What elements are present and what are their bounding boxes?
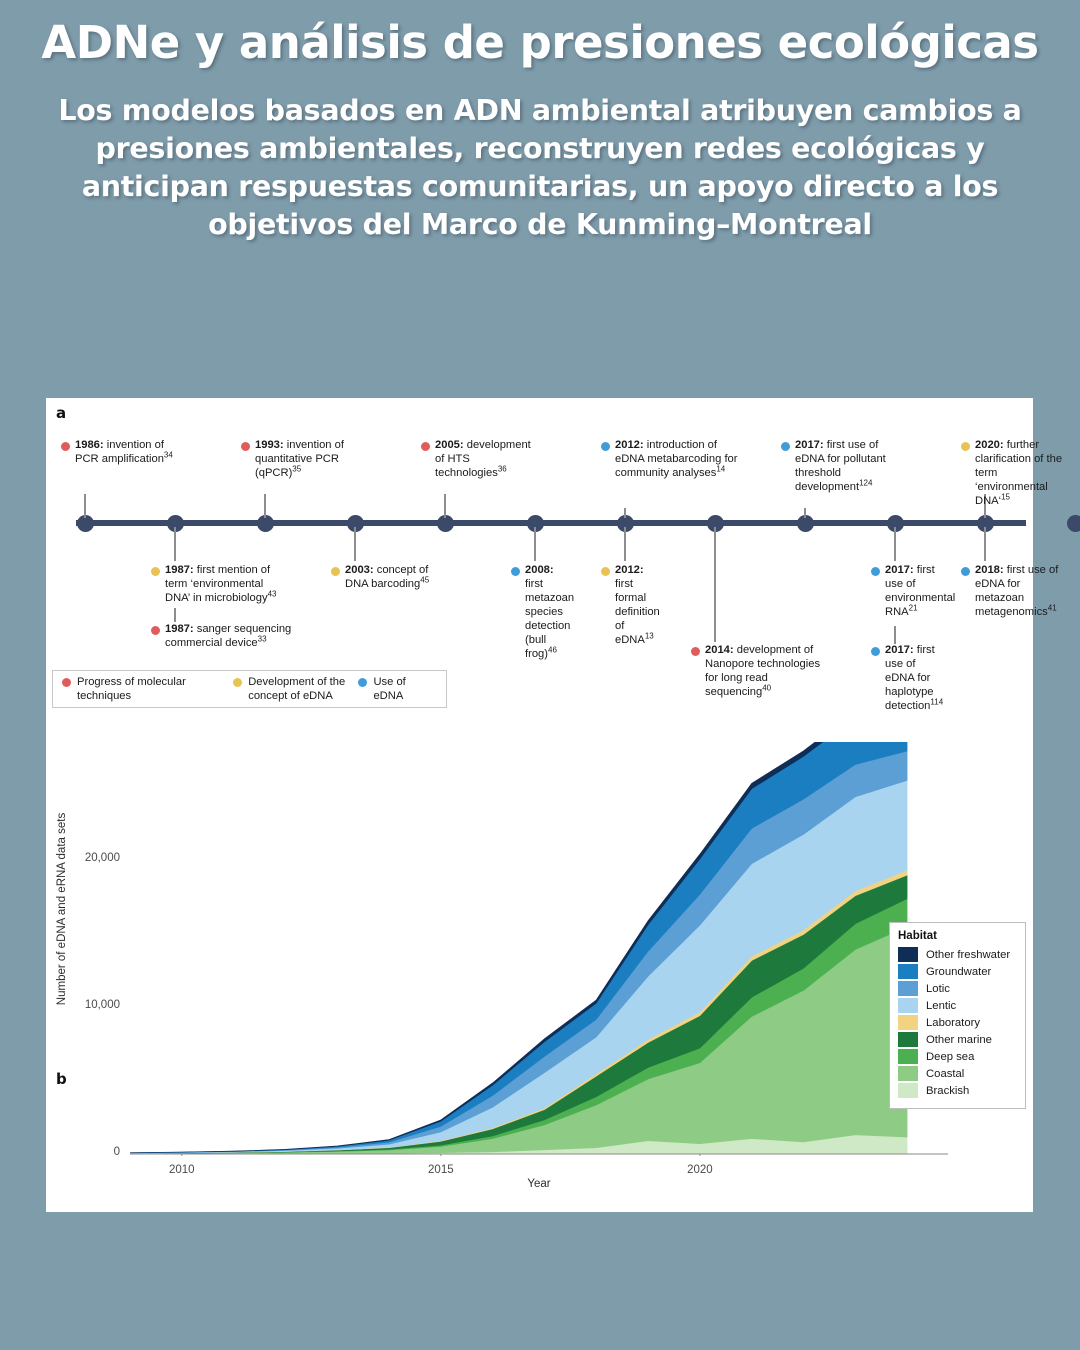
chart-legend-item[interactable]: Groundwater: [898, 964, 1017, 979]
timeline-axis: [76, 520, 1026, 526]
timeline-event-below: 2017: first use of environmental RNA21: [871, 563, 941, 619]
timeline-connector: [354, 527, 356, 561]
legend-swatch: [898, 947, 918, 962]
category-dot-icon: [511, 567, 520, 576]
timeline-connector: [894, 527, 896, 561]
chart-legend-item[interactable]: Lentic: [898, 998, 1017, 1013]
timeline-connector: [534, 527, 536, 561]
timeline-legend-item: Progress of molecular techniques: [62, 675, 233, 703]
poster-header: ADNe y análisis de presiones ecológicas …: [0, 0, 1080, 244]
timeline-event-text: 2014: development of Nanopore technologi…: [691, 643, 831, 699]
timeline-event-below: 1987: sanger sequencing commercial devic…: [151, 622, 311, 650]
chart-legend-label: Groundwater: [926, 966, 991, 978]
timeline-event-text: 2012: introduction of eDNA metabarcoding…: [601, 438, 749, 480]
timeline-event-text: 1986: invention of PCR amplification34: [61, 438, 179, 466]
timeline-legend-label: Development of the concept of eDNA: [248, 675, 358, 703]
timeline-connector: [444, 494, 446, 518]
timeline-event-text: 2017: first use of eDNA for pollutant th…: [781, 438, 909, 494]
chart-legend-label: Other freshwater: [926, 949, 1010, 961]
chart-legend-label: Lentic: [926, 1000, 956, 1012]
timeline-event-below: 2017: first use of eDNA for haplotype de…: [871, 643, 941, 713]
stacked-area-plot: [130, 742, 948, 1154]
timeline-event-below: 2018: first use of eDNA for metazoan met…: [961, 563, 1071, 619]
timeline-connector: [624, 508, 626, 518]
x-tick-label: 2010: [152, 1164, 212, 1176]
legend-swatch: [898, 1083, 918, 1098]
category-dot-icon: [691, 647, 700, 656]
timeline-legend-item: Development of the concept of eDNA: [233, 675, 358, 703]
timeline-event-text: 2017: first use of environmental RNA21: [871, 563, 941, 619]
chart-legend-rows: Other freshwaterGroundwaterLoticLenticLa…: [898, 947, 1017, 1098]
y-tick-label: 10,000: [60, 999, 120, 1011]
timeline-event-above: 2020: further clarification of the term …: [961, 438, 1069, 508]
category-dot-icon: [331, 567, 340, 576]
timeline-event-text: 1987: sanger sequencing commercial devic…: [151, 622, 311, 650]
page-subtitle: Los modelos basados en ADN ambiental atr…: [40, 92, 1040, 244]
category-dot-icon: [601, 442, 610, 451]
timeline-event-text: 2008: first metazoan species detection (…: [511, 563, 573, 661]
category-dot-icon: [961, 567, 970, 576]
timeline-event-below: 2012: first formal definition of eDNA13: [601, 563, 663, 647]
category-dot-icon: [61, 442, 70, 451]
chart-legend-label: Laboratory: [926, 1017, 980, 1029]
timeline-event-text: 2012: first formal definition of eDNA13: [601, 563, 663, 647]
timeline-event-text: 2020: further clarification of the term …: [961, 438, 1069, 508]
timeline-node: [1067, 515, 1080, 532]
timeline-connector: [84, 494, 86, 518]
x-tick-label: 2015: [411, 1164, 471, 1176]
timeline-event-above: 1986: invention of PCR amplification34: [61, 438, 179, 466]
y-tick-label: 0: [60, 1146, 120, 1158]
panel-a-label: a: [56, 404, 66, 422]
timeline-connector: [714, 527, 716, 642]
chart-legend: Habitat Other freshwaterGroundwaterLotic…: [889, 922, 1026, 1109]
figure-panel: a 1986: invention of PCR amplification34…: [46, 398, 1033, 1212]
x-tick-label: 2020: [670, 1164, 730, 1176]
legend-swatch: [898, 1049, 918, 1064]
chart-legend-label: Other marine: [926, 1034, 992, 1046]
timeline-event-text: 2018: first use of eDNA for metazoan met…: [961, 563, 1071, 619]
category-dot-icon: [151, 567, 160, 576]
timeline-legend-item: Use of eDNA: [358, 675, 437, 703]
timeline-connector: [174, 608, 176, 622]
chart-legend-label: Deep sea: [926, 1051, 974, 1063]
timeline-event-above: 1993: invention of quantitative PCR (qPC…: [241, 438, 359, 480]
timeline-event-above: 2005: development of HTS technologies36: [421, 438, 539, 480]
timeline-legend-label: Use of eDNA: [373, 675, 437, 703]
chart-legend-label: Brackish: [926, 1085, 969, 1097]
x-axis-title: Year: [130, 1178, 948, 1190]
timeline-event-below: 2008: first metazoan species detection (…: [511, 563, 573, 661]
legend-dot-icon: [233, 678, 242, 687]
chart-legend-item[interactable]: Other marine: [898, 1032, 1017, 1047]
category-dot-icon: [151, 626, 160, 635]
timeline-event-text: 1993: invention of quantitative PCR (qPC…: [241, 438, 359, 480]
timeline-panel: a 1986: invention of PCR amplification34…: [46, 398, 1033, 728]
timeline-connector: [624, 527, 626, 561]
legend-swatch: [898, 1015, 918, 1030]
category-dot-icon: [601, 567, 610, 576]
timeline-connector: [174, 527, 176, 561]
y-axis-title: Number of eDNA and eRNA data sets: [56, 759, 68, 1059]
timeline-event-above: 2017: first use of eDNA for pollutant th…: [781, 438, 909, 494]
chart-legend-item[interactable]: Deep sea: [898, 1049, 1017, 1064]
chart-legend-item[interactable]: Other freshwater: [898, 947, 1017, 962]
timeline-connector: [804, 508, 806, 518]
legend-swatch: [898, 981, 918, 996]
timeline-event-text: 1987: first mention of term ‘environment…: [151, 563, 291, 605]
chart-panel: b Number of eDNA and eRNA data sets Year…: [46, 728, 1033, 1212]
category-dot-icon: [961, 442, 970, 451]
chart-legend-label: Coastal: [926, 1068, 964, 1080]
timeline-event-text: 2003: concept of DNA barcoding45: [331, 563, 451, 591]
legend-dot-icon: [62, 678, 71, 687]
timeline-event-below: 2003: concept of DNA barcoding45: [331, 563, 451, 591]
timeline-event-text: 2005: development of HTS technologies36: [421, 438, 539, 480]
page-title: ADNe y análisis de presiones ecológicas: [40, 18, 1040, 68]
legend-dot-icon: [358, 678, 367, 687]
legend-swatch: [898, 1032, 918, 1047]
chart-legend-item[interactable]: Brackish: [898, 1083, 1017, 1098]
timeline-legend-label: Progress of molecular techniques: [77, 675, 233, 703]
timeline-event-below: 2014: development of Nanopore technologi…: [691, 643, 831, 699]
category-dot-icon: [781, 442, 790, 451]
category-dot-icon: [241, 442, 250, 451]
y-tick-label: 20,000: [60, 852, 120, 864]
panel-b-label: b: [56, 1070, 67, 1088]
timeline-legend: Progress of molecular techniquesDevelopm…: [52, 670, 447, 708]
timeline-connector: [894, 626, 896, 644]
category-dot-icon: [421, 442, 430, 451]
chart-legend-label: Lotic: [926, 983, 950, 995]
chart-legend-title: Habitat: [898, 930, 1017, 942]
category-dot-icon: [871, 567, 880, 576]
category-dot-icon: [871, 647, 880, 656]
legend-swatch: [898, 964, 918, 979]
legend-swatch: [898, 998, 918, 1013]
chart-legend-item[interactable]: Coastal: [898, 1066, 1017, 1081]
chart-legend-item[interactable]: Laboratory: [898, 1015, 1017, 1030]
chart-legend-item[interactable]: Lotic: [898, 981, 1017, 996]
timeline-event-above: 2012: introduction of eDNA metabarcoding…: [601, 438, 749, 480]
chart-svg: [130, 742, 948, 1156]
timeline-event-below: 1987: first mention of term ‘environment…: [151, 563, 291, 605]
timeline-connector: [264, 494, 266, 518]
timeline-connector: [984, 527, 986, 561]
legend-swatch: [898, 1066, 918, 1081]
timeline-event-text: 2017: first use of eDNA for haplotype de…: [871, 643, 941, 713]
